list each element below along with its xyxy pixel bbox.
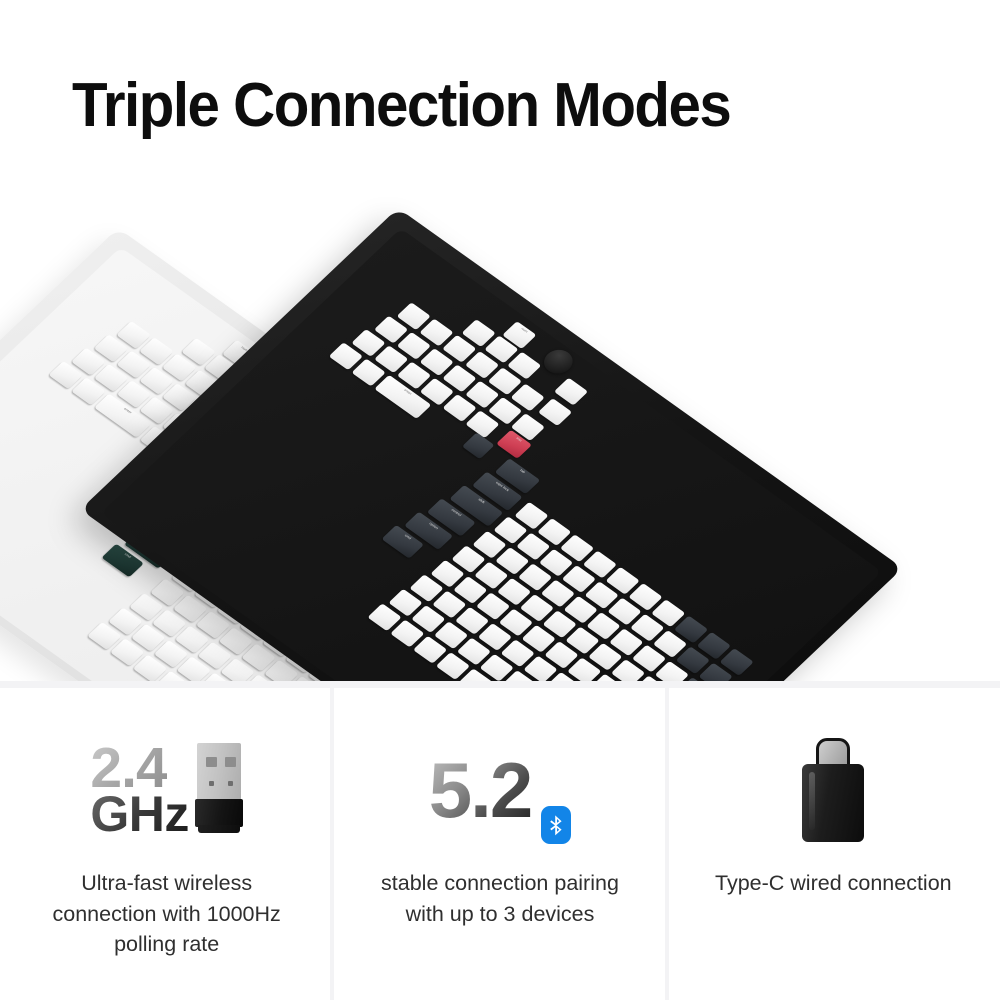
usb-type-c-icon [802, 738, 864, 842]
ghz-spec-block: 2.4 GHz [90, 745, 189, 835]
bluetooth-icon [541, 806, 571, 844]
spec-52-value: 5.2 [429, 755, 531, 825]
feature-type-c-wired: Type-C wired connection [667, 688, 1000, 1000]
key [554, 378, 588, 406]
feature-visual-typec [802, 730, 864, 850]
key [538, 398, 572, 426]
feature-caption-24ghz: Ultra-fast wireless connection with 1000… [33, 868, 301, 960]
feature-row: 2.4 GHz Ultra-fast wireless connection w… [0, 688, 1000, 1000]
usb-pin-right [228, 781, 233, 786]
feature-bluetooth-52: 5.2 stable connection pairing with up to… [333, 688, 666, 1000]
usb-slot-left [206, 757, 217, 767]
page-title: Triple Connection Modes [72, 70, 730, 141]
spec-ghz-unit: GHz [90, 793, 189, 835]
feature-wireless-24ghz: 2.4 GHz Ultra-fast wireless connection w… [0, 688, 333, 1000]
usb-base-foot [198, 825, 240, 833]
feature-visual-bluetooth: 5.2 [429, 730, 571, 850]
feature-visual-24ghz: 2.4 GHz [90, 730, 243, 850]
usb-dongle-icon [195, 743, 243, 835]
product-feature-page: Triple Connection Modes num [0, 0, 1000, 1000]
usb-connector-body [197, 743, 241, 801]
key [462, 432, 495, 459]
section-divider-horizontal [0, 681, 1000, 688]
usb-slot-right [225, 757, 236, 767]
usb-plastic-base [195, 799, 243, 827]
hero-keyboard-image: num [0, 190, 1000, 682]
feature-caption-typec: Type-C wired connection [699, 868, 967, 899]
usb-pin-left [209, 781, 214, 786]
black-keyboard-knob [538, 345, 578, 378]
typec-highlight [809, 772, 815, 830]
feature-caption-bluetooth: stable connection pairing with up to 3 d… [366, 868, 634, 929]
keyboard-stage: num [0, 190, 1000, 682]
